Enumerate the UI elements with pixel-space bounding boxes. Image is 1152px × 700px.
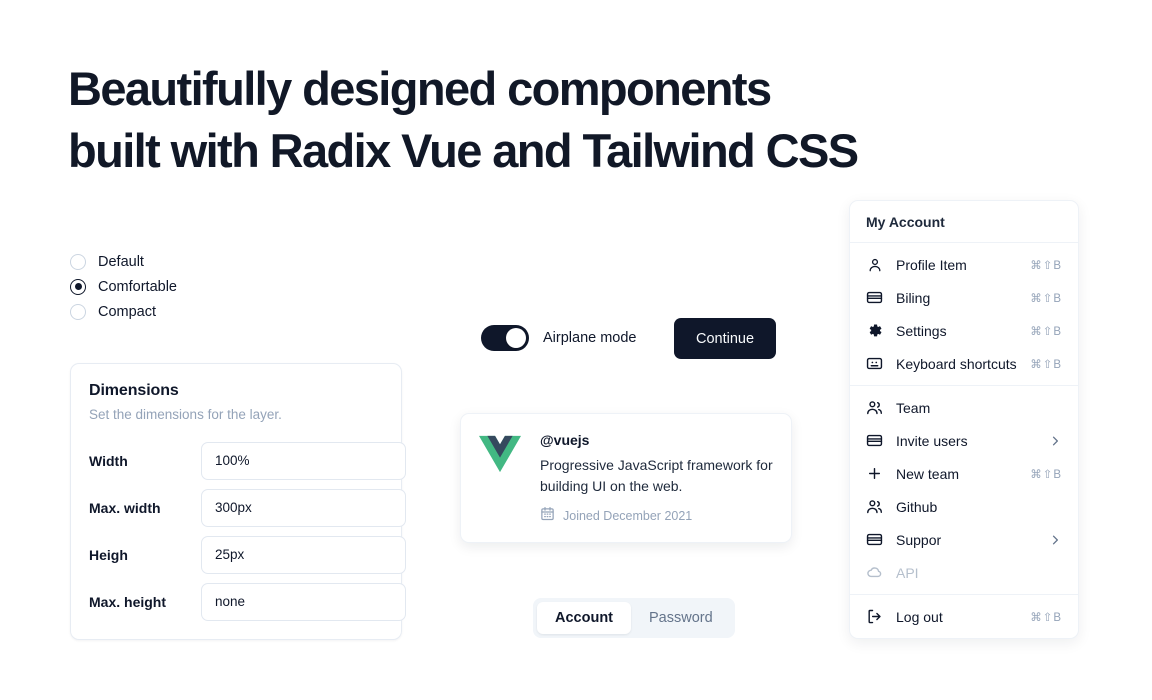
menu-item-label: Settings <box>896 323 1030 339</box>
page-root: Beautifully designed components built wi… <box>0 0 1152 700</box>
menu-group: TeamInvite usersNew team⌘⇧BGithubSupporA… <box>850 386 1078 594</box>
menu-item-keyboard-shortcuts[interactable]: Keyboard shortcuts⌘⇧B <box>855 347 1073 380</box>
menu-header: My Account <box>850 201 1078 242</box>
user-icon <box>866 256 883 273</box>
cloud-icon <box>866 564 883 581</box>
menu-group: Log out⌘⇧B <box>850 595 1078 638</box>
hover-card-joined: Joined December 2021 <box>540 506 782 526</box>
airplane-mode-switch[interactable] <box>481 325 529 351</box>
dimensions-fields: WidthMax. widthHeighMax. height <box>89 441 383 621</box>
menu-group: Profile Item⌘⇧BBiling⌘⇧BSettings⌘⇧BKeybo… <box>850 243 1078 385</box>
radio-option[interactable]: Comfortable <box>70 274 177 299</box>
menu-item-label: Suppor <box>896 532 1048 548</box>
radio-indicator[interactable] <box>70 254 86 270</box>
dimensions-description: Set the dimensions for the layer. <box>89 407 383 422</box>
menu-item-label: Profile Item <box>896 257 1030 273</box>
page-title-line-1: Beautifully designed components <box>68 58 1028 120</box>
menu-groups: Profile Item⌘⇧BBiling⌘⇧BSettings⌘⇧BKeybo… <box>850 243 1078 638</box>
menu-item-label: Invite users <box>896 433 1048 449</box>
menu-item-log-out[interactable]: Log out⌘⇧B <box>855 600 1073 633</box>
radio-group: DefaultComfortableCompact <box>70 249 177 324</box>
calendar-icon <box>540 506 555 526</box>
dimensions-title: Dimensions <box>89 382 383 400</box>
users-icon <box>866 399 883 416</box>
menu-item-invite-users[interactable]: Invite users <box>855 424 1073 457</box>
dimension-field-label: Heigh <box>89 547 201 563</box>
tab-account[interactable]: Account <box>537 602 631 634</box>
dimension-field-row: Width <box>89 441 383 480</box>
credit-card-icon <box>866 531 883 548</box>
switch-knob <box>506 328 526 348</box>
menu-item-label: Team <box>896 400 1062 416</box>
tabs: AccountPassword <box>533 598 735 638</box>
menu-item-new-team[interactable]: New team⌘⇧B <box>855 457 1073 490</box>
menu-item-label: API <box>896 565 1062 581</box>
menu-item-label: Github <box>896 499 1062 515</box>
credit-card-icon <box>866 289 883 306</box>
radio-label: Comfortable <box>98 279 177 295</box>
dimension-field-row: Heigh <box>89 535 383 574</box>
menu-item-suppor[interactable]: Suppor <box>855 523 1073 556</box>
account-dropdown-menu: My Account Profile Item⌘⇧BBiling⌘⇧BSetti… <box>849 200 1079 639</box>
menu-item-api: API <box>855 556 1073 589</box>
airplane-mode-row: Airplane mode <box>481 325 637 351</box>
radio-indicator[interactable] <box>70 304 86 320</box>
page-title-line-2: built with Radix Vue and Tailwind CSS <box>68 120 1028 182</box>
menu-item-label: Keyboard shortcuts <box>896 356 1030 372</box>
hover-card-body: @vuejs Progressive JavaScript framework … <box>540 431 782 525</box>
continue-button[interactable]: Continue <box>674 318 776 359</box>
keyboard-icon <box>866 355 883 372</box>
radio-option[interactable]: Default <box>70 249 177 274</box>
dimension-field-label: Max. height <box>89 594 201 610</box>
dimension-field-input[interactable] <box>201 442 406 480</box>
menu-item-shortcut: ⌘⇧B <box>1030 258 1062 272</box>
menu-item-label: New team <box>896 466 1030 482</box>
menu-item-shortcut: ⌘⇧B <box>1030 610 1062 624</box>
dimension-field-label: Width <box>89 453 201 469</box>
vue-logo-icon <box>479 433 521 475</box>
menu-item-settings[interactable]: Settings⌘⇧B <box>855 314 1073 347</box>
hover-card-description: Progressive JavaScript framework for bui… <box>540 455 782 497</box>
dimension-field-input[interactable] <box>201 489 406 527</box>
menu-item-shortcut: ⌘⇧B <box>1030 324 1062 338</box>
chevron-right-icon <box>1048 533 1062 547</box>
dimension-field-input[interactable] <box>201 583 406 621</box>
menu-item-label: Log out <box>896 609 1030 625</box>
dimension-field-label: Max. width <box>89 500 201 516</box>
page-title: Beautifully designed components built wi… <box>68 58 1028 182</box>
gear-icon <box>866 322 883 339</box>
menu-item-team[interactable]: Team <box>855 391 1073 424</box>
chevron-right-icon <box>1048 434 1062 448</box>
plus-icon <box>866 465 883 482</box>
hover-card-joined-text: Joined December 2021 <box>563 509 692 523</box>
dimension-field-row: Max. width <box>89 488 383 527</box>
radio-label: Default <box>98 254 144 270</box>
hover-card-handle: @vuejs <box>540 432 782 448</box>
users-icon <box>866 498 883 515</box>
radio-indicator[interactable] <box>70 279 86 295</box>
radio-option[interactable]: Compact <box>70 299 177 324</box>
credit-card-icon <box>866 432 883 449</box>
menu-item-github[interactable]: Github <box>855 490 1073 523</box>
menu-item-shortcut: ⌘⇧B <box>1030 291 1062 305</box>
dimension-field-input[interactable] <box>201 536 406 574</box>
vue-hover-card: @vuejs Progressive JavaScript framework … <box>460 413 792 543</box>
menu-item-biling[interactable]: Biling⌘⇧B <box>855 281 1073 314</box>
dimensions-card: Dimensions Set the dimensions for the la… <box>70 363 402 640</box>
radio-label: Compact <box>98 304 156 320</box>
menu-item-profile-item[interactable]: Profile Item⌘⇧B <box>855 248 1073 281</box>
dimension-field-row: Max. height <box>89 582 383 621</box>
menu-item-label: Biling <box>896 290 1030 306</box>
tab-password[interactable]: Password <box>631 602 731 634</box>
menu-item-shortcut: ⌘⇧B <box>1030 357 1062 371</box>
logout-icon <box>866 608 883 625</box>
menu-item-shortcut: ⌘⇧B <box>1030 467 1062 481</box>
airplane-mode-label: Airplane mode <box>543 330 637 346</box>
